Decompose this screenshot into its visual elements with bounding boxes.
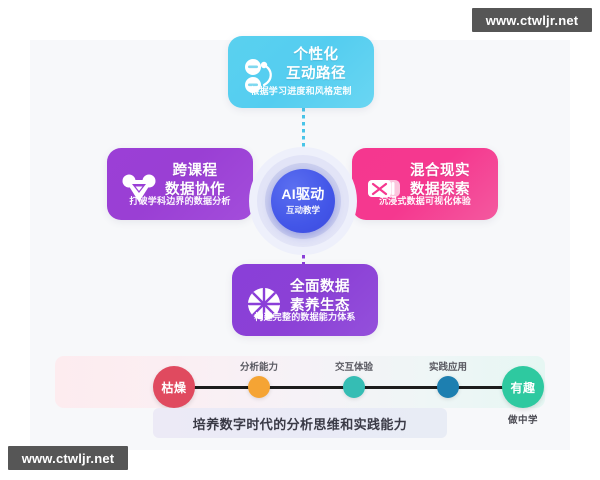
card-title-line1: 跨课程 xyxy=(147,162,243,181)
timeline-strip: 枯燥 被动接受 分析能力 交互体验 实践应用 有趣 做中学 xyxy=(55,356,545,408)
connector-top-dotted xyxy=(302,108,305,148)
card-title-line1: 混合现实 xyxy=(392,162,488,181)
card-subtitle: 沉浸式数据可视化体验 xyxy=(352,195,498,207)
card-data-literacy[interactable]: 全面数据 素养生态 构建完整的数据能力体系 xyxy=(232,264,378,336)
bottom-caption-text: 培养数字时代的分析思维和实践能力 xyxy=(193,414,407,433)
timeline-start-label: 枯燥 xyxy=(161,379,186,396)
bottom-caption: 培养数字时代的分析思维和实践能力 xyxy=(153,408,447,438)
watermark-text: www.ctwljr.net xyxy=(22,451,115,466)
timeline-step-label: 实践应用 xyxy=(403,359,493,373)
infographic-stage: 个性化 互动路径 根据学习进度和风格定制 跨课程 数据协作 打破学科边界的数据分… xyxy=(0,0,600,480)
card-title-group: 个性化 互动路径 xyxy=(268,46,364,84)
hub-title: AI驱动 xyxy=(281,186,324,203)
center-hub[interactable]: AI驱动 互动教学 xyxy=(249,147,357,255)
card-title-line1: 全面数据 xyxy=(272,278,368,297)
card-cross-curriculum[interactable]: 跨课程 数据协作 打破学科边界的数据分析 xyxy=(107,148,253,220)
timeline-node-step-1[interactable]: 分析能力 xyxy=(248,376,270,398)
timeline-node-step-3[interactable]: 实践应用 xyxy=(437,376,459,398)
watermark-text: www.ctwljr.net xyxy=(486,13,579,28)
timeline-node-start[interactable]: 枯燥 被动接受 xyxy=(153,366,195,408)
timeline-end-caption: 做中学 xyxy=(478,412,568,426)
hub-core: AI驱动 互动教学 xyxy=(271,169,335,233)
timeline-step-label: 分析能力 xyxy=(214,359,304,373)
timeline-end-label: 有趣 xyxy=(510,379,535,396)
card-mixed-reality[interactable]: 混合现实 数据探索 沉浸式数据可视化体验 xyxy=(352,148,498,220)
watermark-top-right: www.ctwljr.net xyxy=(472,8,592,32)
timeline-step-label: 交互体验 xyxy=(309,359,399,373)
card-subtitle: 打破学科边界的数据分析 xyxy=(107,195,253,207)
hub-subtitle: 互动教学 xyxy=(286,204,320,216)
watermark-bottom-left: www.ctwljr.net xyxy=(8,446,128,470)
card-subtitle: 构建完整的数据能力体系 xyxy=(232,311,378,323)
card-title-line1: 个性化 xyxy=(268,46,364,65)
timeline-node-step-2[interactable]: 交互体验 xyxy=(343,376,365,398)
card-subtitle: 根据学习进度和风格定制 xyxy=(228,85,374,97)
card-title-line2: 互动路径 xyxy=(268,65,364,84)
timeline-node-end[interactable]: 有趣 做中学 xyxy=(502,366,544,408)
card-personalized-path[interactable]: 个性化 互动路径 根据学习进度和风格定制 xyxy=(228,36,374,108)
